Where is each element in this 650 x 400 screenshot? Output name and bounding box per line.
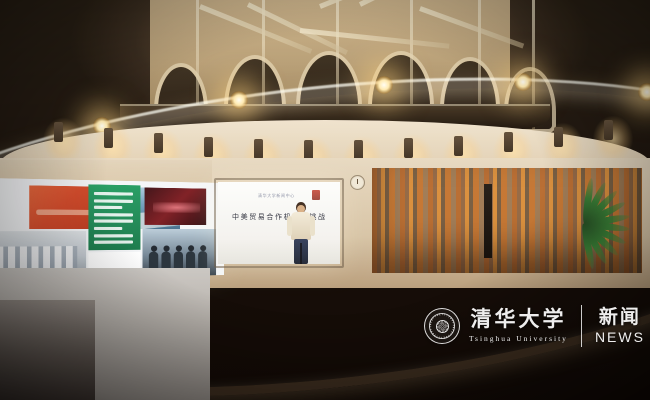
tsinghua-seal-icon [424,308,460,344]
wall-clock-icon [350,175,365,190]
presenter-arm-left [287,216,292,236]
speaker-column [484,184,492,258]
wall-sconce [104,128,113,148]
green-panel-text-line [94,192,133,196]
seal-tick-ring [429,313,455,339]
wall-sconce [204,137,213,157]
watermark: 清华大学 Tsinghua University 新闻 NEWS [424,305,645,347]
green-panel-text-line [94,220,133,223]
wall-sconce [354,140,363,160]
presenter-torso [291,212,311,240]
ring-downlight [375,76,393,94]
wall-sconce [154,133,163,153]
green-panel-text-line [94,234,133,237]
panel-dark-red-screen-photo [145,188,207,225]
green-panel-text-line [94,213,133,216]
green-panel-text-line [94,241,133,244]
presenter-legs [294,239,308,264]
panel-green-text [88,184,140,250]
display-wall [0,178,224,281]
watermark-divider [581,305,582,347]
ring-downlight [638,83,650,101]
watermark-news-block: 新闻 NEWS [595,308,645,345]
green-panel-text-line [94,199,133,203]
wall-sconce [604,120,613,140]
wall-sconce [554,127,563,147]
wall-sconce [254,139,263,159]
green-panel-text-line [94,227,122,230]
green-panel-text-line [94,206,122,209]
wall-sconce [504,132,513,152]
watermark-university-en: Tsinghua University [469,334,568,343]
presenter [288,202,314,264]
watermark-news-cn: 新闻 [599,308,641,327]
wall-sconce [304,140,313,160]
auditorium-photo: 清华大学新闻中心 中美贸易合作机遇与挑战 清华大学 Tsinghua Unive… [0,0,650,400]
watermark-university-block: 清华大学 Tsinghua University [469,309,568,343]
watermark-news-en: NEWS [595,329,645,345]
wall-sconce [404,138,413,158]
projection-title-line: 清华大学新闻中心 [258,193,295,199]
red-seal-stamp-icon [312,190,320,200]
wall-sconce [54,122,63,142]
watermark-university-cn: 清华大学 [470,309,566,330]
floor-shadow [0,300,95,400]
projection-screen: 清华大学新闻中心 中美贸易合作机遇与挑战 [218,182,340,264]
wall-sconce [454,136,463,156]
wood-slat-panel [372,168,642,273]
presenter-arm-right [310,216,315,236]
